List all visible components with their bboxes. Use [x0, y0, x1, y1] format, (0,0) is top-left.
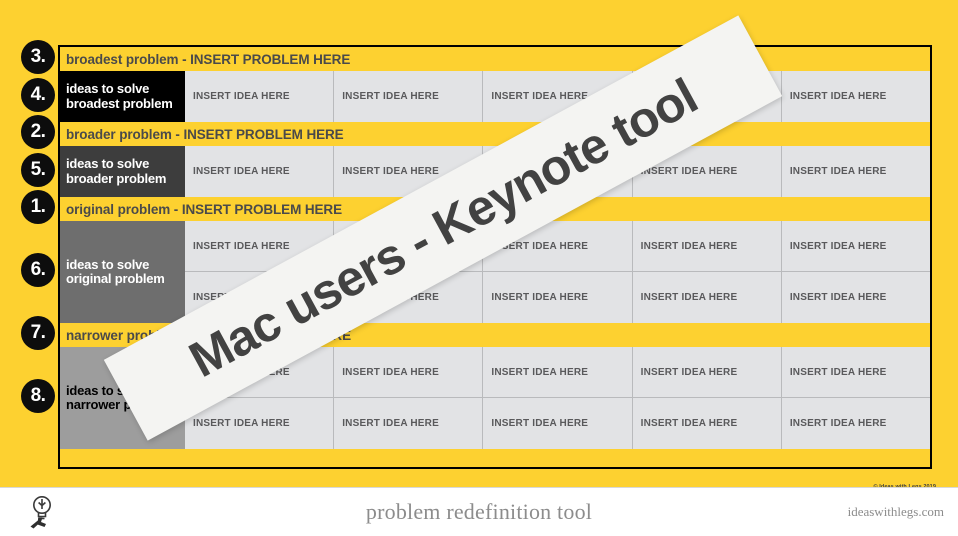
- idea-cell[interactable]: INSERT IDEA HERE: [482, 272, 631, 323]
- idea-cell-placeholder: INSERT IDEA HERE: [491, 91, 588, 102]
- ideas-row-label-text: ideas to solve broader problem: [66, 157, 183, 185]
- footer-title: problem redefinition tool: [0, 488, 958, 536]
- idea-cell-placeholder: INSERT IDEA HERE: [641, 166, 738, 177]
- idea-cell-placeholder: INSERT IDEA HERE: [491, 418, 588, 429]
- step-bullet: 4.: [21, 78, 55, 112]
- idea-cell-placeholder: INSERT IDEA HERE: [342, 91, 439, 102]
- ideas-row-label: ideas to solve original problem: [60, 221, 185, 323]
- step-bullet: 3.: [21, 40, 55, 74]
- ideas-row-label: ideas to solve broader problem: [60, 146, 185, 197]
- idea-cell-placeholder: INSERT IDEA HERE: [342, 418, 439, 429]
- problem-row[interactable]: broadest problem - INSERT PROBLEM HERE: [60, 47, 930, 71]
- step-bullet: 2.: [21, 115, 55, 149]
- idea-cell-placeholder: INSERT IDEA HERE: [641, 418, 738, 429]
- ideas-row: ideas to solve broadest problemINSERT ID…: [60, 71, 930, 122]
- idea-cell[interactable]: INSERT IDEA HERE: [632, 347, 781, 398]
- idea-cell[interactable]: INSERT IDEA HERE: [185, 71, 333, 122]
- idea-cell-placeholder: INSERT IDEA HERE: [641, 367, 738, 378]
- step-bullet: 6.: [21, 253, 55, 287]
- idea-cell-placeholder: INSERT IDEA HERE: [193, 91, 290, 102]
- step-bullet: 5.: [21, 153, 55, 187]
- problem-row-text: broader problem - INSERT PROBLEM HERE: [60, 127, 344, 142]
- step-bullet-number: 8.: [31, 385, 46, 407]
- step-bullet-number: 4.: [31, 84, 46, 106]
- ideas-row-label-text: ideas to solve broadest problem: [66, 82, 183, 110]
- idea-cell-placeholder: INSERT IDEA HERE: [790, 292, 887, 303]
- step-bullet: 7.: [21, 316, 55, 350]
- idea-cell[interactable]: INSERT IDEA HERE: [781, 398, 930, 449]
- step-bullet-number: 7.: [31, 322, 46, 344]
- step-bullet-number: 3.: [31, 46, 46, 68]
- idea-cell-placeholder: INSERT IDEA HERE: [342, 166, 439, 177]
- problem-row[interactable]: broader problem - INSERT PROBLEM HERE: [60, 122, 930, 146]
- idea-cell-placeholder: INSERT IDEA HERE: [193, 418, 290, 429]
- idea-cell-placeholder: INSERT IDEA HERE: [790, 418, 887, 429]
- idea-cell[interactable]: INSERT IDEA HERE: [781, 347, 930, 398]
- problem-row-text: original problem - INSERT PROBLEM HERE: [60, 202, 342, 217]
- idea-cell[interactable]: INSERT IDEA HERE: [632, 398, 781, 449]
- step-bullet-number: 2.: [31, 121, 46, 143]
- idea-cell-placeholder: INSERT IDEA HERE: [790, 367, 887, 378]
- idea-cell[interactable]: INSERT IDEA HERE: [333, 398, 482, 449]
- step-bullet: 8.: [21, 379, 55, 413]
- idea-cell-placeholder: INSERT IDEA HERE: [790, 91, 887, 102]
- idea-cell[interactable]: INSERT IDEA HERE: [632, 221, 781, 272]
- idea-cell[interactable]: INSERT IDEA HERE: [781, 146, 930, 197]
- idea-cell-placeholder: INSERT IDEA HERE: [641, 292, 738, 303]
- idea-cell[interactable]: INSERT IDEA HERE: [781, 221, 930, 272]
- idea-cell-placeholder: INSERT IDEA HERE: [193, 241, 290, 252]
- ideas-row-label-text: ideas to solve original problem: [66, 258, 183, 286]
- step-bullet: 1.: [21, 190, 55, 224]
- idea-cell[interactable]: INSERT IDEA HERE: [632, 272, 781, 323]
- idea-cell-placeholder: INSERT IDEA HERE: [491, 292, 588, 303]
- idea-cell-placeholder: INSERT IDEA HERE: [790, 241, 887, 252]
- idea-cell[interactable]: INSERT IDEA HERE: [781, 71, 930, 122]
- idea-cell[interactable]: INSERT IDEA HERE: [482, 398, 631, 449]
- slide-canvas: broadest problem - INSERT PROBLEM HEREid…: [0, 0, 958, 487]
- idea-cell-placeholder: INSERT IDEA HERE: [790, 166, 887, 177]
- idea-cell[interactable]: INSERT IDEA HERE: [333, 347, 482, 398]
- step-bullet-number: 6.: [31, 259, 46, 281]
- idea-cell[interactable]: INSERT IDEA HERE: [482, 347, 631, 398]
- idea-cell-placeholder: INSERT IDEA HERE: [342, 367, 439, 378]
- step-bullet-number: 1.: [31, 196, 46, 218]
- slide-footer: problem redefinition tool ideaswithlegs.…: [0, 487, 958, 536]
- idea-cell-placeholder: INSERT IDEA HERE: [641, 241, 738, 252]
- idea-cell[interactable]: INSERT IDEA HERE: [333, 71, 482, 122]
- ideas-subrow: INSERT IDEA HEREINSERT IDEA HEREINSERT I…: [185, 398, 930, 449]
- idea-cell-placeholder: INSERT IDEA HERE: [491, 367, 588, 378]
- idea-cell-placeholder: INSERT IDEA HERE: [193, 166, 290, 177]
- idea-cell[interactable]: INSERT IDEA HERE: [781, 272, 930, 323]
- footer-url[interactable]: ideaswithlegs.com: [848, 488, 944, 536]
- problem-row-text: broadest problem - INSERT PROBLEM HERE: [60, 52, 350, 67]
- step-bullet-number: 5.: [31, 159, 46, 181]
- idea-cell[interactable]: INSERT IDEA HERE: [185, 146, 333, 197]
- ideas-row-label: ideas to solve broadest problem: [60, 71, 185, 122]
- ideas-cell-grid: INSERT IDEA HEREINSERT IDEA HEREINSERT I…: [185, 347, 930, 449]
